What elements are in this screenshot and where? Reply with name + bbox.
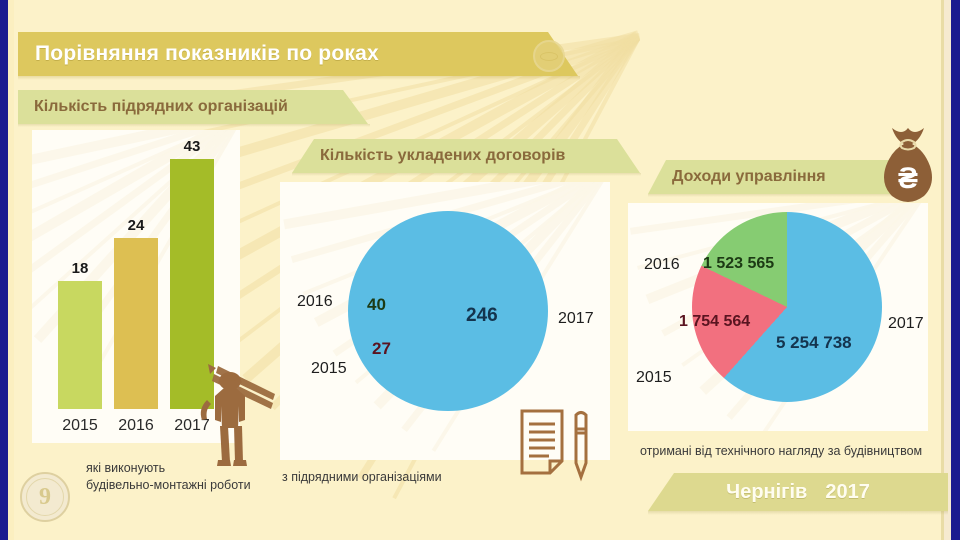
- footer-year: 2017: [825, 481, 870, 504]
- bar-category-2015: 2015: [57, 417, 103, 435]
- page-title: Порівняння показників по роках: [18, 42, 379, 66]
- caption-income: отримані від технічного нагляду за будів…: [640, 443, 940, 460]
- section-label-contracts: Кількість укладених договорів: [292, 147, 565, 165]
- caption-contracts: з підрядними організаціями: [282, 469, 532, 486]
- coin-watermark-icon: [533, 40, 565, 72]
- bar-value-2017: 43: [170, 138, 214, 155]
- section1-shadow: [18, 124, 370, 127]
- logo-ring: [26, 478, 64, 516]
- bar-value-2016: 24: [114, 217, 158, 234]
- section-label-income: Доходи управління: [648, 168, 826, 186]
- pie1-value-2017: 246: [466, 305, 498, 327]
- pie1-label-2016: 2016: [297, 293, 333, 311]
- left-blue-edge: [0, 0, 8, 540]
- income-pie-chart: [692, 212, 882, 402]
- pie2-label-2017: 2017: [888, 315, 924, 333]
- pie1-value-2015: 27: [372, 339, 391, 359]
- caption-contractors: які виконують будівельно-монтажні роботи: [86, 460, 296, 494]
- pie2-value-2017: 5 254 738: [776, 333, 852, 353]
- bar-value-2015: 18: [58, 260, 102, 277]
- pie2-label-2015: 2015: [636, 369, 672, 387]
- pie2-value-2015: 1 754 564: [679, 313, 750, 331]
- pie1-value-2016: 40: [367, 295, 386, 315]
- worker-with-plank-icon: [178, 356, 286, 468]
- pie1-label-2015: 2015: [311, 360, 347, 378]
- bar-category-2016: 2016: [113, 417, 159, 435]
- right-inner-frame: [944, 0, 951, 540]
- slide-canvas: Порівняння показників по роках Кількість…: [0, 0, 960, 540]
- title-banner-shadow: [18, 76, 580, 80]
- left-inner-frame: [8, 0, 14, 540]
- section2-shadow: [292, 173, 641, 176]
- bar-2016: [114, 238, 158, 409]
- pie1-label-2017: 2017: [558, 310, 594, 328]
- bar-2015: [58, 281, 102, 409]
- footer-banner: Чернігів 2017: [648, 473, 948, 511]
- right-blue-edge: [951, 0, 960, 540]
- hryvnia-symbol: ₴: [898, 162, 918, 195]
- money-bag-hryvnia-icon: ₴: [872, 126, 944, 206]
- footer-shadow: [648, 511, 948, 515]
- section-header-contractors: Кількість підрядних організацій: [18, 90, 368, 124]
- footer-city: Чернігів: [726, 481, 807, 504]
- organisation-logo: 9: [20, 472, 70, 522]
- pie2-value-2016: 1 523 565: [703, 255, 774, 273]
- section-label-contractors: Кількість підрядних організацій: [18, 98, 288, 116]
- slide-title-banner: Порівняння показників по роках: [18, 32, 578, 76]
- pie2-label-2016: 2016: [644, 256, 680, 274]
- section-header-contracts: Кількість укладених договорів: [292, 139, 640, 173]
